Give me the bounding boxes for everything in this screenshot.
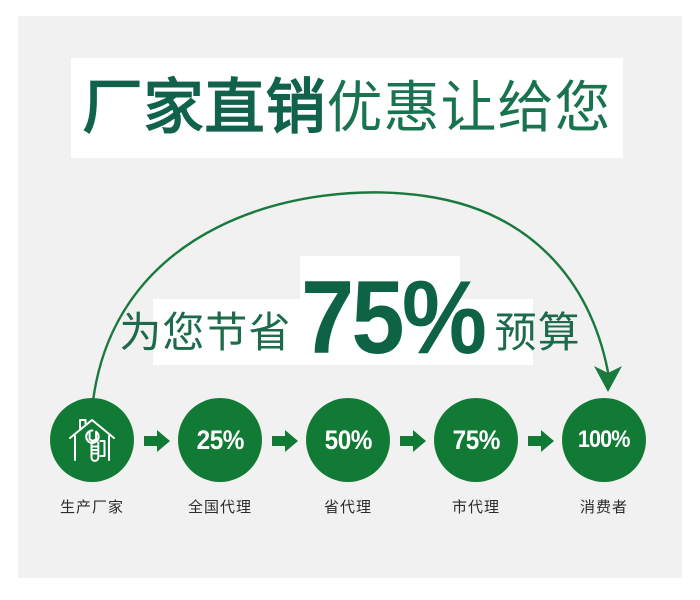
poster-canvas: 厂家直销 优惠让给您 为您节省 75% 预算 [0,0,700,600]
page-title: 厂家直销 优惠让给您 [71,58,623,158]
savings-percent: 75% [301,274,484,362]
chain-node-national-agent[interactable]: 25% 全国代理 [174,398,266,517]
chain-node-label: 生产厂家 [46,496,138,517]
title-light-text: 优惠让给您 [327,80,612,136]
right-arrow-icon [144,430,170,452]
distribution-chain: 生产厂家 25% 全国代理 50% 省代理 75% [40,398,660,533]
chain-node-value: 25% [196,427,243,454]
chain-node-value: 100% [578,428,630,452]
chain-node-value: 75% [452,427,499,454]
chain-bubble [50,398,134,482]
chain-bubble: 50% [306,398,390,482]
savings-statement: 为您节省 75% 预算 [0,256,700,366]
chain-node-label: 市代理 [430,496,522,517]
chain-bubble: 25% [178,398,262,482]
chain-node-manufacturer[interactable]: 生产厂家 [46,398,138,517]
chain-bubble: 75% [434,398,518,482]
chain-node-label: 全国代理 [174,496,266,517]
right-arrow-icon [528,430,554,452]
chain-node-label: 消费者 [558,496,650,517]
chain-node-province-agent[interactable]: 50% 省代理 [302,398,394,517]
chain-node-value: 50% [324,427,371,454]
factory-tools-icon [66,415,118,465]
right-arrow-icon [272,430,298,452]
savings-suffix: 预算 [495,312,581,354]
title-strong-text: 厂家直销 [83,78,327,138]
chain-node-label: 省代理 [302,496,394,517]
savings-prefix: 为您节省 [119,312,291,354]
chain-node-city-agent[interactable]: 75% 市代理 [430,398,522,517]
right-arrow-icon [400,430,426,452]
chain-node-consumer[interactable]: 100% 消费者 [558,398,650,517]
chain-bubble: 100% [562,398,646,482]
